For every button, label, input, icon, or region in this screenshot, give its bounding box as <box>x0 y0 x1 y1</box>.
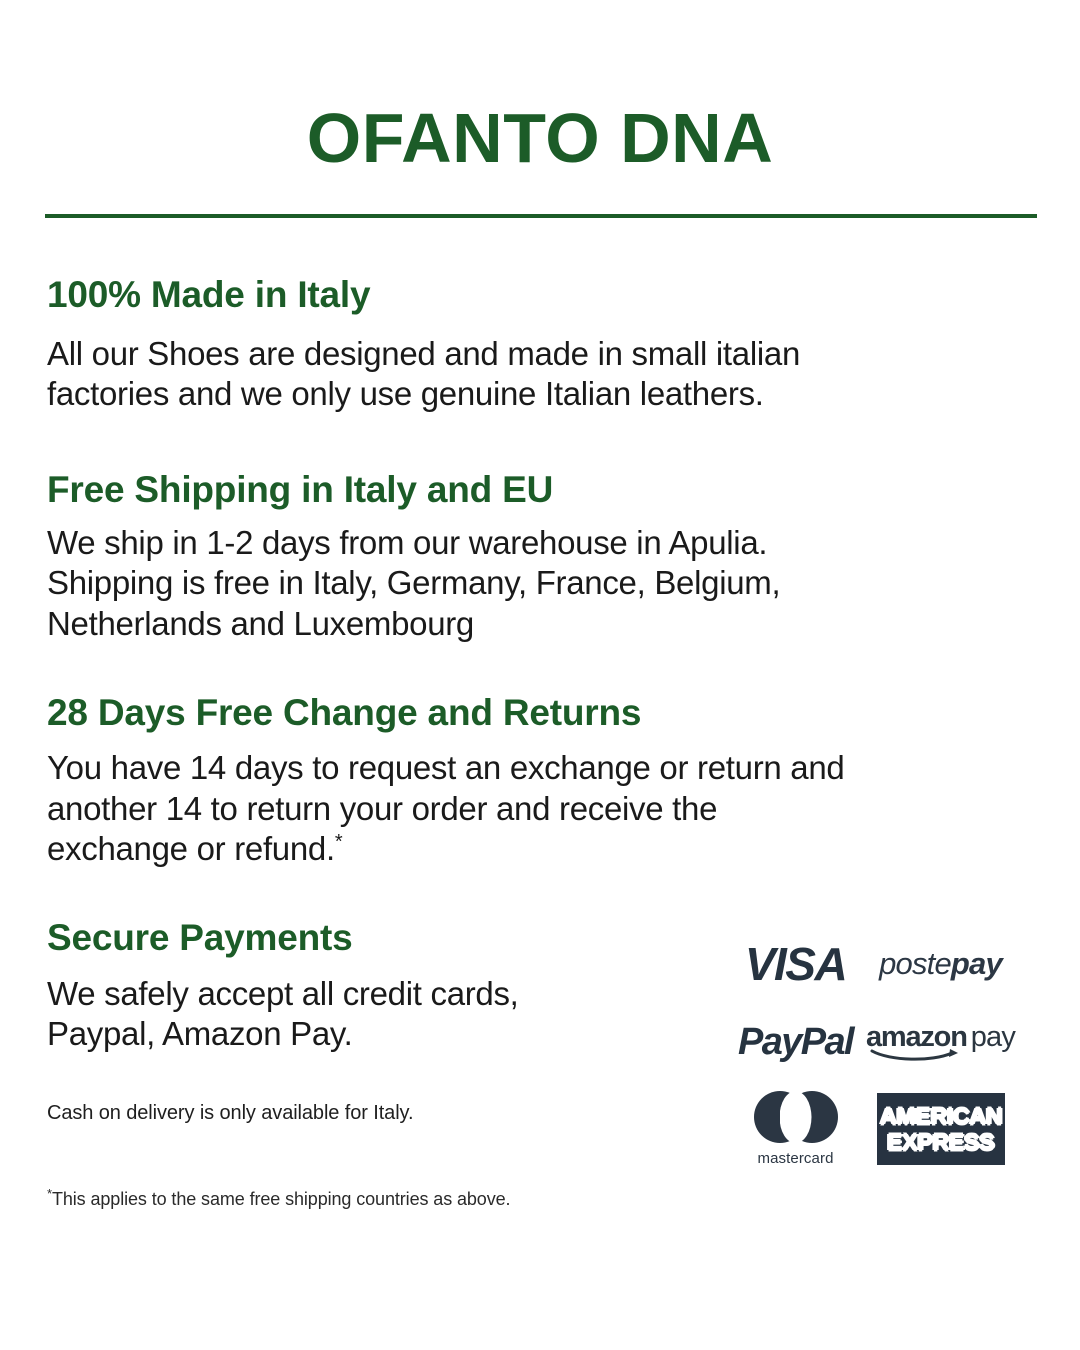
mastercard-circles <box>754 1091 838 1143</box>
body-line: We ship in 1-2 days from our warehouse i… <box>47 523 1035 563</box>
mastercard-wordmark: mastercard <box>757 1150 833 1167</box>
body-line: You have 14 days to request an exchange … <box>47 748 1035 788</box>
body-line: Shipping is free in Italy, Germany, Fran… <box>47 563 1035 603</box>
visa-icon: VISA <box>745 937 846 991</box>
footnote-marker: * <box>335 831 342 853</box>
section-heading-change-and-returns: 28 Days Free Change and Returns <box>47 692 1035 735</box>
body-line: We safely accept all credit cards, <box>47 974 687 1014</box>
visa-logo-cell: VISA <box>723 925 868 1003</box>
mastercard-icon: mastercard <box>754 1091 838 1167</box>
amex-line-american: AMERICAN <box>879 1105 1001 1128</box>
amazon-pay-text: pay <box>971 1021 1015 1053</box>
section-heading-free-shipping: Free Shipping in Italy and EU <box>47 469 1035 512</box>
section-body-free-shipping: We ship in 1-2 days from our warehouse i… <box>47 523 1035 644</box>
body-line: Paypal, Amazon Pay. <box>47 1014 687 1054</box>
content-area: 100% Made in Italy All our Shoes are des… <box>0 274 1080 1230</box>
body-line: Netherlands and Luxembourg <box>47 604 1035 644</box>
paypal-logo-cell: PayPal <box>723 1003 868 1081</box>
ofanto-dna-page: OFANTO DNA 100% Made in Italy All our Sh… <box>0 0 1080 1350</box>
postepay-poste-text: poste <box>879 946 951 981</box>
body-line: another 14 to return your order and rece… <box>47 789 1035 829</box>
mastercard-overlap-lens <box>780 1091 812 1143</box>
section-body-made-in-italy: All our Shoes are designed and made in s… <box>47 334 1035 415</box>
section-body-secure-payments: We safely accept all credit cards, Paypa… <box>47 974 687 1055</box>
shipping-countries-footnote: *This applies to the same free shipping … <box>47 1188 687 1211</box>
secure-payments-text-block: Secure Payments We safely accept all cre… <box>47 917 687 1229</box>
page-title: OFANTO DNA <box>0 0 1080 176</box>
section-heading-secure-payments: Secure Payments <box>47 917 687 960</box>
section-made-in-italy: 100% Made in Italy All our Shoes are des… <box>47 274 1035 415</box>
amazon-smile-arrow-icon <box>870 1048 962 1062</box>
postepay-pay-text: pay <box>951 946 1002 981</box>
section-secure-payments: Secure Payments We safely accept all cre… <box>47 917 1035 1229</box>
body-line-with-marker: exchange or refund.* <box>47 829 1035 869</box>
footnote-text: This applies to the same free shipping c… <box>52 1189 510 1209</box>
amazon-pay-icon: amazonpay <box>866 1023 1015 1061</box>
postepay-icon: postepay <box>879 946 1002 982</box>
american-express-logo-cell: AMERICAN EXPRESS <box>868 1081 1013 1177</box>
cash-on-delivery-note: Cash on delivery is only available for I… <box>47 1100 687 1126</box>
section-free-shipping: Free Shipping in Italy and EU We ship in… <box>47 469 1035 644</box>
postepay-logo-cell: postepay <box>868 925 1013 1003</box>
title-divider <box>45 214 1037 218</box>
payment-logos: VISA postepay PayPal amazonpay <box>723 925 1013 1177</box>
mastercard-logo-cell: mastercard <box>723 1081 868 1177</box>
body-line: All our Shoes are designed and made in s… <box>47 334 1035 374</box>
section-change-and-returns: 28 Days Free Change and Returns You have… <box>47 692 1035 869</box>
american-express-icon: AMERICAN EXPRESS <box>877 1093 1005 1165</box>
section-body-change-and-returns: You have 14 days to request an exchange … <box>47 748 1035 869</box>
section-heading-made-in-italy: 100% Made in Italy <box>47 274 1035 317</box>
amazon-pay-logo-cell: amazonpay <box>868 1003 1013 1081</box>
body-line-text: exchange or refund. <box>47 830 335 867</box>
amex-line-express: EXPRESS <box>887 1131 994 1154</box>
page-header: OFANTO DNA <box>0 0 1080 218</box>
body-line: factories and we only use genuine Italia… <box>47 374 1035 414</box>
paypal-icon: PayPal <box>738 1021 853 1064</box>
